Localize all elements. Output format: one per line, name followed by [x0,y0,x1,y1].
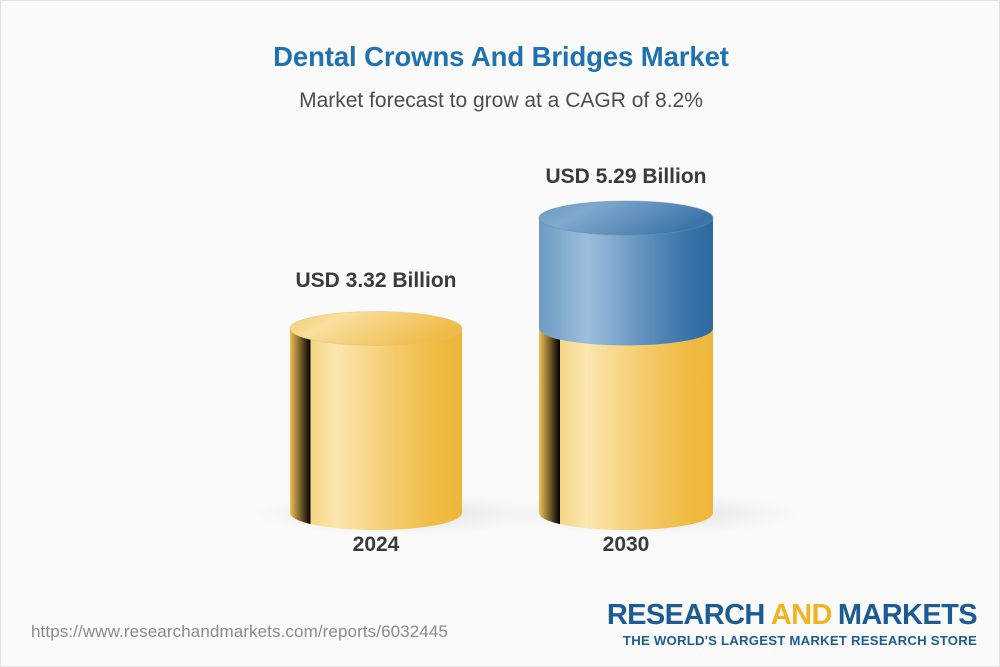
plot-area: USD 3.32 Billion USD 5.29 Billion 2024 2… [1,1,1000,667]
logo-word-and: AND [771,599,832,631]
source-url[interactable]: https://www.researchandmarkets.com/repor… [31,622,448,642]
cylinder-bar-chart-svg [1,1,1000,667]
category-label-2024: 2024 [290,533,462,557]
cylinder-bar-2024[interactable] [251,312,551,537]
cylinder-bar-2030[interactable] [499,201,803,536]
bar-segment-growth-2030 [539,218,713,346]
bar-body-2024 [290,329,462,531]
category-label-2030: 2030 [539,533,713,557]
logo-word-markets: MARKETS [838,599,977,631]
logo-word-research: RESEARCH [607,599,765,631]
logo-tagline: THE WORLD'S LARGEST MARKET RESEARCH STOR… [607,633,977,649]
chart-canvas: Dental Crowns And Bridges Market Market … [0,0,1000,667]
research-and-markets-logo[interactable]: RESEARCHANDMARKETS THE WORLD'S LARGEST M… [607,601,977,648]
value-label-2030: USD 5.29 Billion [539,165,713,189]
value-label-2024: USD 3.32 Billion [290,269,462,293]
bar-segment-base-2030 [539,329,713,531]
logo-wordmark: RESEARCHANDMARKETS [607,601,977,631]
